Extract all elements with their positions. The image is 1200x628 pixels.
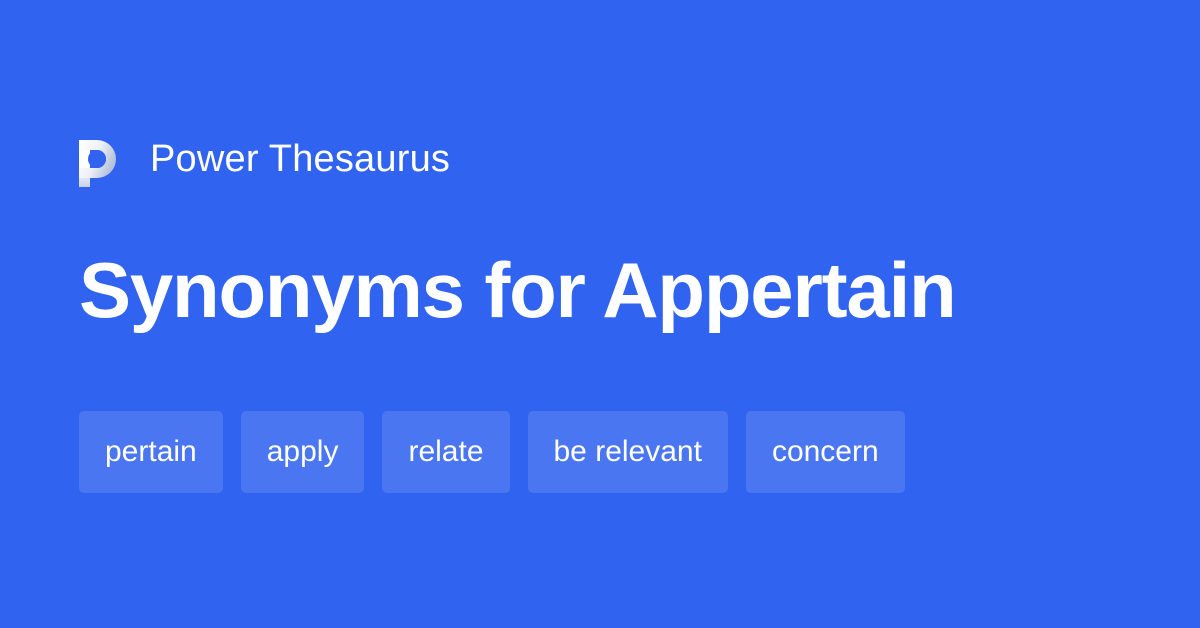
page-title: Synonyms for Appertain (79, 248, 956, 332)
synonym-chip[interactable]: pertain (79, 411, 223, 493)
power-thesaurus-logo-icon (79, 131, 125, 187)
social-share-card: power thesaurus Synonyms for Appertain p… (0, 0, 1200, 628)
synonym-chip[interactable]: be relevant (528, 411, 728, 493)
synonym-chip-list: pertain apply relate be relevant concern (79, 411, 905, 493)
synonym-chip[interactable]: apply (241, 411, 365, 493)
brand-lockup[interactable]: power thesaurus (79, 128, 450, 190)
brand-name: power thesaurus (150, 140, 450, 178)
synonym-chip[interactable]: concern (746, 411, 905, 493)
synonym-chip[interactable]: relate (382, 411, 509, 493)
